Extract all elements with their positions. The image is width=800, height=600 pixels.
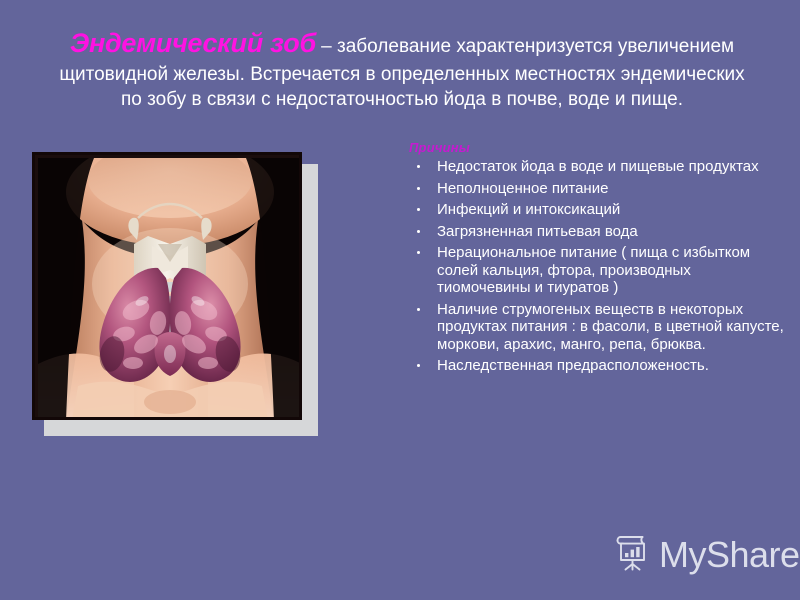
bullet-dot-icon [417, 308, 420, 311]
bullet-dot-icon [417, 165, 420, 168]
list-item: Недостаток йода в воде и пищевые продукт… [407, 158, 787, 176]
list-item-label: Нерациональное питание ( пища с избытком… [437, 244, 750, 296]
bullet-dot-icon [417, 230, 420, 233]
bullet-dot-icon [417, 364, 420, 367]
list-item: Инфекций и интоксикаций [407, 201, 787, 219]
slide-root: Эндемический зоб – заболевание характенр… [0, 0, 800, 600]
thyroid-picture [32, 152, 318, 437]
title-term: Эндемический зоб [70, 28, 316, 58]
page-title: Эндемический зоб – заболевание характенр… [52, 26, 752, 112]
causes-section: Причины Недостаток йода в воде и пищевые… [407, 140, 787, 379]
bullet-dot-icon [417, 187, 420, 190]
bullet-dot-icon [417, 208, 420, 211]
myshared-label: MyShared [659, 537, 800, 573]
list-item-label: Загрязненная питьевая вода [437, 223, 638, 240]
list-item: Наличие струмогеных веществ в некоторых … [407, 301, 787, 354]
list-item-label: Инфекций и интоксикаций [437, 201, 620, 218]
list-item-label: Наличие струмогеных веществ в некоторых … [437, 301, 784, 353]
presentation-chart-icon [610, 531, 652, 578]
list-item-label: Наследственная предрасположеность. [437, 357, 709, 374]
bullet-dot-icon [417, 251, 420, 254]
list-item: Наследственная предрасположеность. [407, 357, 787, 375]
list-item: Загрязненная питьевая вода [407, 223, 787, 241]
list-item: Нерациональное питание ( пища с избытком… [407, 244, 787, 297]
list-item-label: Неполноценное питание [437, 180, 608, 197]
list-item-label: Недостаток йода в воде и пищевые продукт… [437, 158, 759, 175]
causes-heading: Причины [409, 140, 787, 155]
causes-list: Недостаток йода в воде и пищевые продукт… [407, 158, 787, 375]
thyroid-anatomy-illustration-icon [38, 158, 302, 420]
myshared-watermark: MyShared [610, 531, 800, 578]
list-item: Неполноценное питание [407, 180, 787, 198]
picture-frame [32, 152, 302, 420]
